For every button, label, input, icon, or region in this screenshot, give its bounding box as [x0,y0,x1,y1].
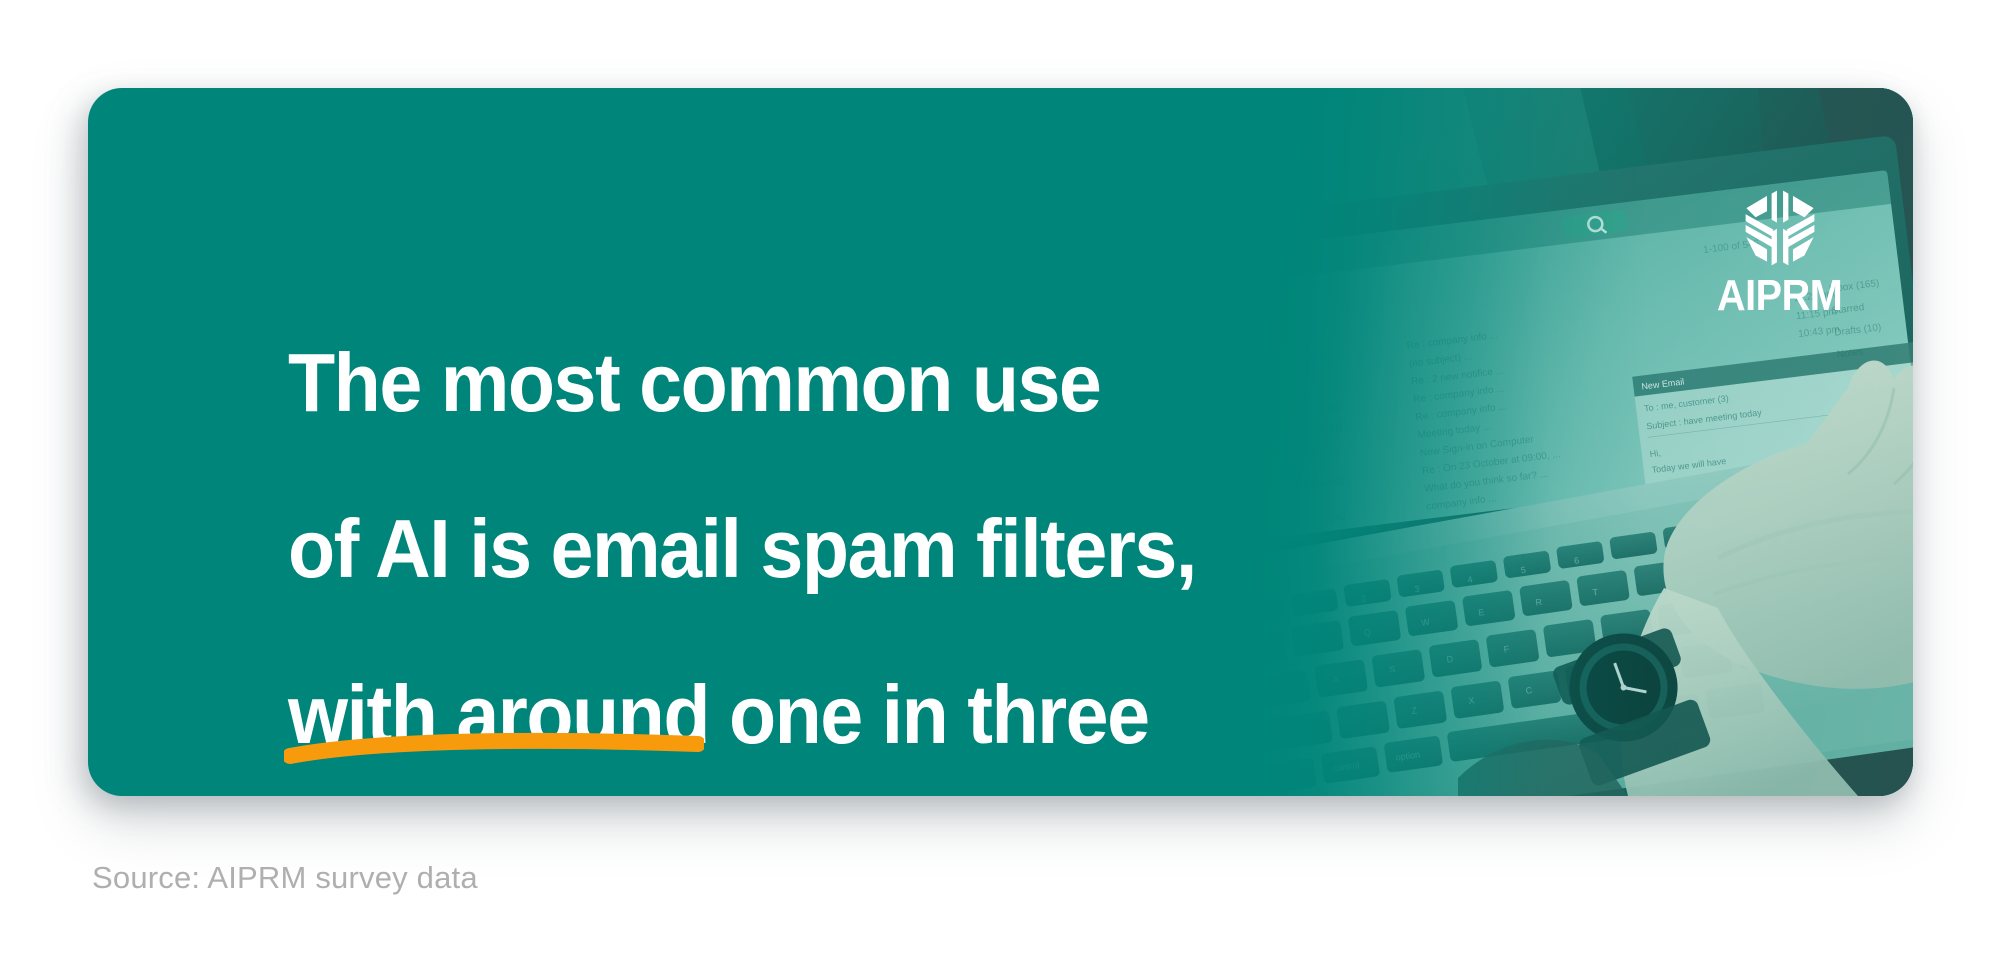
quote-card: Email All More 1-100 of 546 me, customer… [88,88,1913,796]
aiprm-logo: AIPRM [1719,186,1841,318]
aiprm-cube-icon [1738,186,1822,270]
headline: The most common use of AI is email spam … [288,258,1199,796]
quote-card-page: Email All More 1-100 of 546 me, customer… [0,0,2000,978]
aiprm-wordmark: AIPRM [1717,274,1842,318]
headline-line-2: of AI is email spam filters, [288,507,1199,590]
headline-line-3: with around one in three [288,673,1199,756]
source-caption: Source: AIPRM survey data [92,862,478,893]
headline-line-1: The most common use [288,341,1199,424]
